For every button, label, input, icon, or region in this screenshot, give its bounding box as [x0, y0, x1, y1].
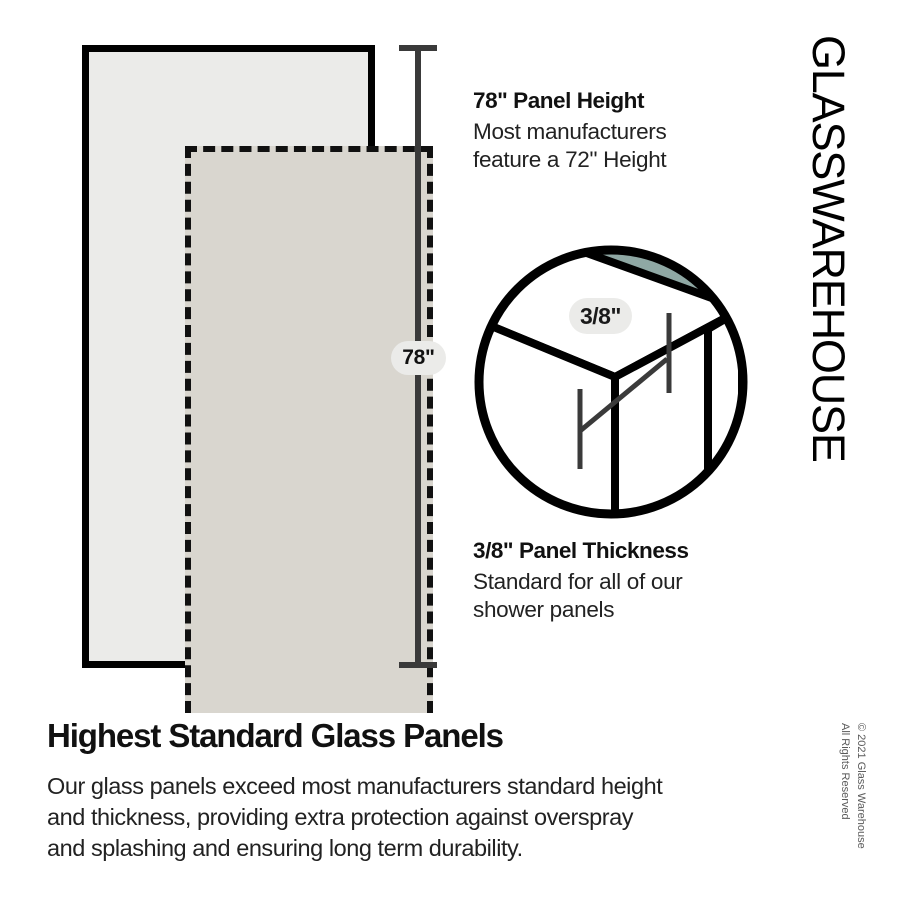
glass-panel-outline — [82, 45, 375, 668]
callout-height-body-line2: feature a 72" Height — [473, 146, 773, 175]
height-dimension-cap-bottom — [399, 662, 437, 668]
infographic-root: 78" 78" Panel Height Most manufacturers … — [0, 0, 900, 900]
callout-thickness-body: Standard for all of our shower panels — [473, 568, 773, 626]
height-dimension-badge: 78" — [391, 341, 446, 375]
height-dimension-cap-top — [399, 45, 437, 51]
callout-panel-thickness: 3/8" Panel Thickness Standard for all of… — [473, 538, 773, 625]
competitor-panel-dashed-outline — [185, 146, 433, 713]
footer-text-block: Highest Standard Glass Panels Our glass … — [47, 718, 787, 864]
thickness-diagram: 3/8" — [470, 241, 752, 523]
callout-thickness-body-line2: shower panels — [473, 596, 773, 625]
callout-panel-height: 78" Panel Height Most manufacturers feat… — [473, 88, 773, 175]
copyright-line-2: All Rights Reserved — [837, 723, 853, 849]
footer-body: Our glass panels exceed most manufacture… — [47, 771, 787, 863]
callout-height-body-line1: Most manufacturers — [473, 118, 773, 147]
callout-height-title: 78" Panel Height — [473, 88, 773, 115]
copyright-notice: © 2021 Glass Warehouse All Rights Reserv… — [837, 723, 868, 849]
callout-thickness-title: 3/8" Panel Thickness — [473, 538, 773, 565]
copyright-line-1: © 2021 Glass Warehouse — [852, 723, 868, 849]
footer-body-line1: Our glass panels exceed most manufacture… — [47, 771, 787, 802]
callout-height-body: Most manufacturers feature a 72" Height — [473, 118, 773, 176]
callout-thickness-body-line1: Standard for all of our — [473, 568, 773, 597]
footer-body-line3: and splashing and ensuring long term dur… — [47, 833, 787, 864]
brand-wordmark: GLASSWAREHOUSE — [806, 35, 851, 462]
thickness-diagram-svg — [470, 241, 752, 523]
footer-headline: Highest Standard Glass Panels — [47, 718, 787, 754]
thickness-badge: 3/8" — [569, 298, 632, 334]
footer-body-line2: and thickness, providing extra protectio… — [47, 802, 787, 833]
